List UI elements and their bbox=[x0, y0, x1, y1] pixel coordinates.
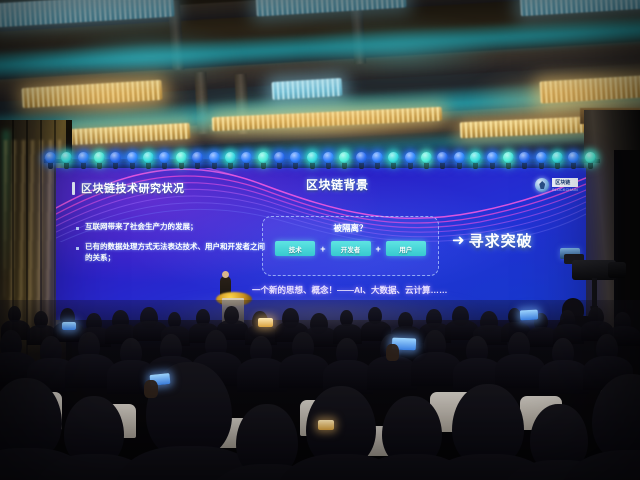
slide-footer-note: 一个新的思想、概念！——AI、大数据、云计算…… bbox=[252, 284, 582, 296]
phone-screen bbox=[318, 420, 334, 430]
ceiling bbox=[0, 0, 640, 160]
audience-shoulder bbox=[539, 360, 589, 394]
camera-lens bbox=[608, 262, 626, 278]
logo-name: 区块链 bbox=[552, 178, 578, 187]
audience-shoulder bbox=[367, 356, 417, 390]
plus-icon: + bbox=[320, 244, 325, 254]
slide-bullet-list: 互联网带来了社会生产力的发展； 已有的数据处理方式无法表达技术、用户和开发者之间… bbox=[76, 222, 271, 273]
slide-title-left-group: 区块链技术研究状况 bbox=[72, 180, 185, 196]
audience-hand bbox=[144, 380, 158, 398]
conference-photo: 区块链技术研究状况 区块链背景 区块链 BLOCKCHAIN 互联网带来了社会生… bbox=[0, 0, 640, 480]
plus-icon: + bbox=[376, 244, 381, 254]
lighting-truss bbox=[44, 150, 600, 172]
led-stage-screen: 区块链技术研究状况 区块链背景 区块链 BLOCKCHAIN 互联网带来了社会生… bbox=[56, 168, 586, 320]
slide-title-right: 区块链背景 bbox=[306, 176, 369, 193]
logo-subtitle: BLOCKCHAIN bbox=[552, 188, 578, 192]
arrow-right-icon: ➜ bbox=[452, 233, 465, 248]
breakthrough-label: 寻求突破 bbox=[469, 230, 533, 251]
isolation-card: 被隔离？ 技术 + 开发者 + 用户 bbox=[262, 216, 439, 276]
stage-light bbox=[584, 152, 597, 169]
chip-developer: 开发者 bbox=[331, 241, 371, 256]
ceiling-glow bbox=[190, 106, 470, 140]
audience-shoulder bbox=[279, 354, 329, 388]
logo-badge-icon bbox=[535, 178, 549, 192]
audience-hand bbox=[386, 344, 399, 361]
breakthrough-group: ➜ 寻求突破 bbox=[452, 230, 533, 251]
slide-title-left: 区块链技术研究状况 bbox=[81, 180, 185, 196]
bullet-text: 互联网带来了社会生产力的发展； bbox=[85, 222, 198, 233]
logo-label-group: 区块链 BLOCKCHAIN bbox=[552, 178, 578, 192]
stage-light-halo bbox=[578, 147, 603, 172]
title-accent-bar bbox=[72, 182, 75, 195]
ceiling-glow bbox=[20, 78, 200, 118]
phone-screen bbox=[520, 310, 538, 321]
ceiling-glow bbox=[300, 26, 500, 72]
isolation-card-heading: 被隔离？ bbox=[263, 222, 438, 234]
chip-user: 用户 bbox=[386, 241, 426, 256]
audience-shoulder bbox=[495, 354, 545, 388]
bullet-text: 已有的数据处理方式无法表达技术、用户和开发者之间的关系； bbox=[85, 242, 271, 264]
chandelier bbox=[519, 0, 640, 16]
phone-screen bbox=[258, 318, 273, 327]
list-item: 互联网带来了社会生产力的发展； bbox=[76, 222, 271, 233]
phone-screen bbox=[62, 322, 76, 330]
conference-logo: 区块链 BLOCKCHAIN bbox=[535, 178, 578, 192]
bullet-dot-icon bbox=[76, 227, 79, 230]
chandelier bbox=[255, 0, 406, 17]
bullet-dot-icon bbox=[76, 247, 79, 250]
chip-technology: 技术 bbox=[275, 241, 315, 256]
list-item: 已有的数据处理方式无法表达技术、用户和开发者之间的关系； bbox=[76, 242, 271, 264]
audience bbox=[0, 300, 640, 480]
isolation-chip-row: 技术 + 开发者 + 用户 bbox=[263, 241, 438, 256]
ceiling-glow bbox=[60, 34, 240, 78]
slide-title-right-group: 区块链背景 bbox=[306, 176, 369, 193]
